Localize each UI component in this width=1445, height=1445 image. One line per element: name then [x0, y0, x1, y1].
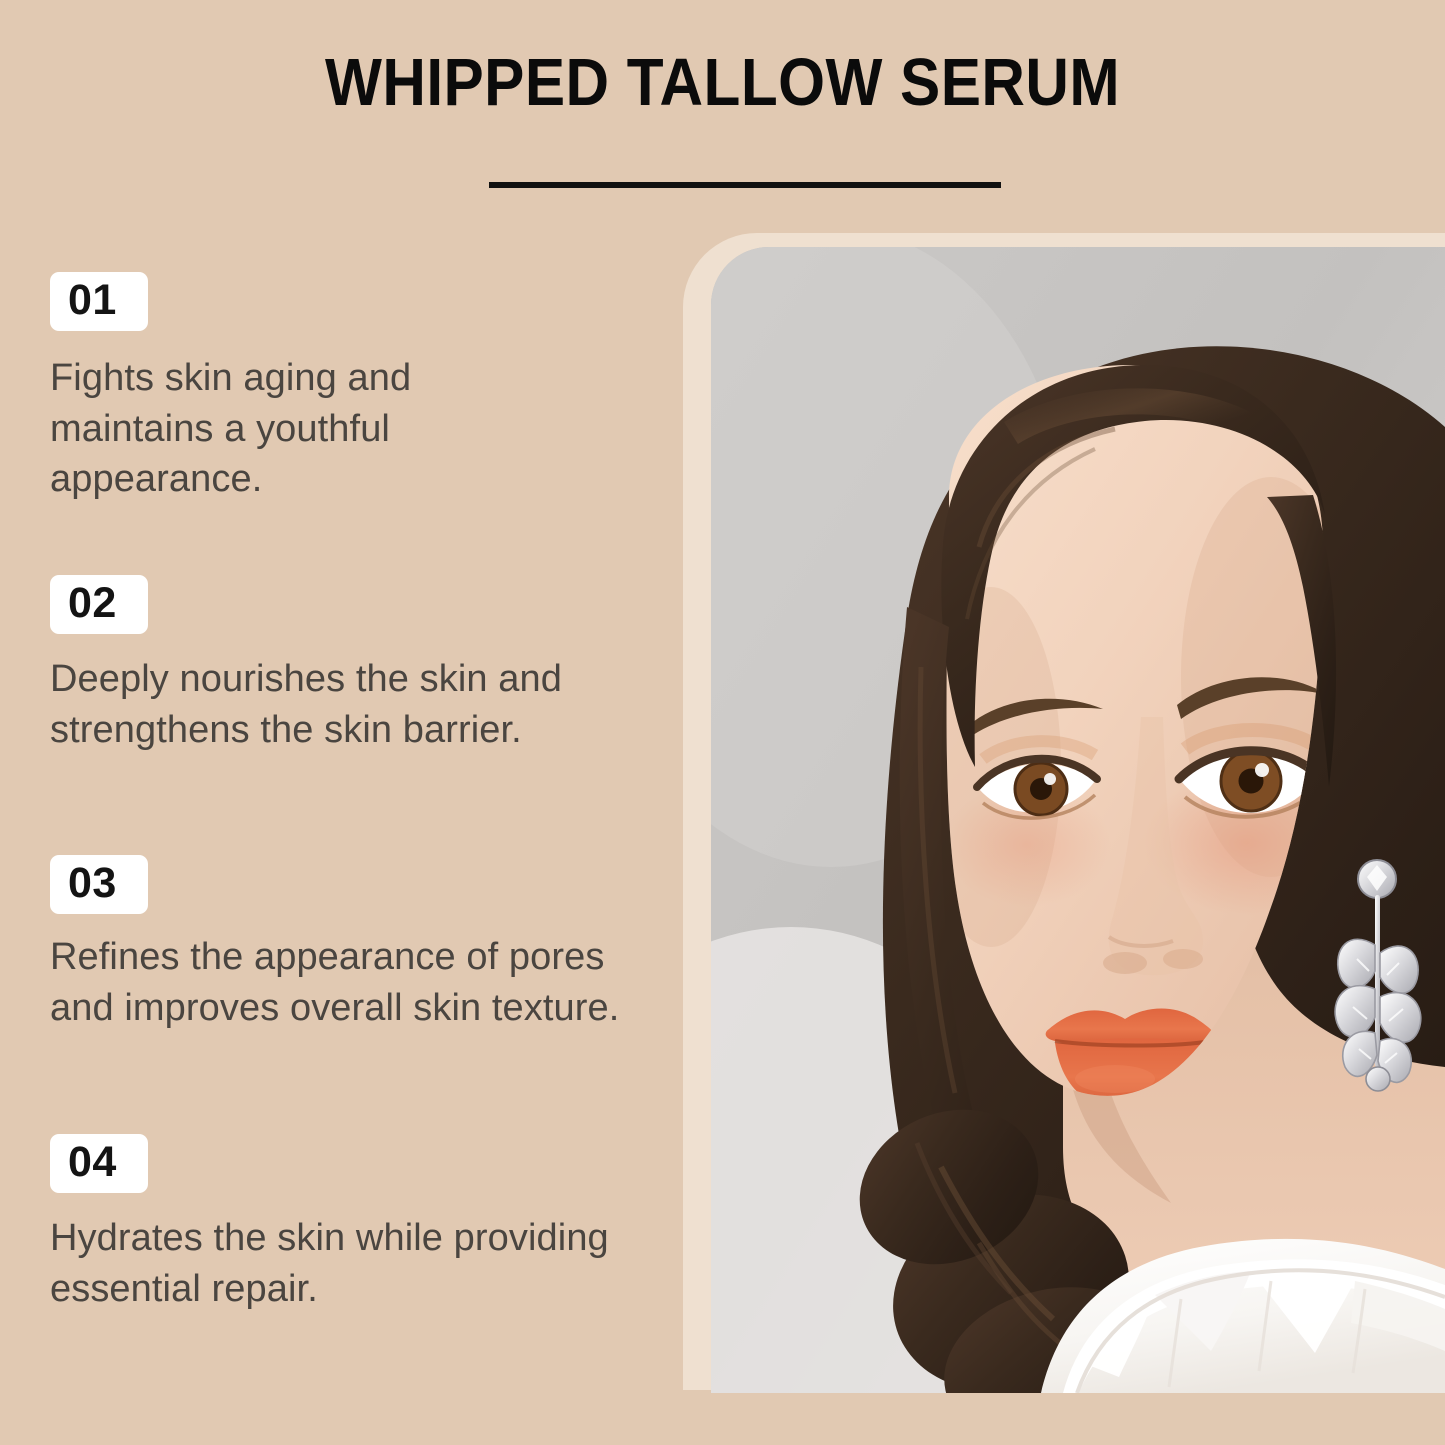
feature-badge-03: 03	[50, 855, 148, 914]
feature-text-01: Fights skin aging and maintains a youthf…	[50, 353, 520, 505]
feature-text-03: Refines the appearance of pores and impr…	[50, 932, 630, 1033]
page-title: WHIPPED TALLOW SERUM	[72, 44, 1373, 121]
feature-item-03: 03 Refines the appearance of pores and i…	[50, 855, 630, 1033]
infographic-page: WHIPPED TALLOW SERUM 01 Fights skin agin…	[0, 0, 1445, 1445]
feature-text-02: Deeply nourishes the skin and strengthen…	[50, 654, 690, 755]
model-portrait-photo	[711, 247, 1445, 1393]
feature-item-01: 01 Fights skin aging and maintains a you…	[50, 272, 520, 505]
feature-badge-02: 02	[50, 575, 148, 634]
feature-badge-04: 04	[50, 1134, 148, 1193]
feature-item-02: 02 Deeply nourishes the skin and strengt…	[50, 575, 690, 755]
feature-item-04: 04 Hydrates the skin while providing ess…	[50, 1134, 610, 1314]
portrait-illustration	[711, 247, 1445, 1393]
title-divider-rule	[489, 182, 1001, 188]
feature-badge-01: 01	[50, 272, 148, 331]
feature-text-04: Hydrates the skin while providing essent…	[50, 1213, 610, 1314]
